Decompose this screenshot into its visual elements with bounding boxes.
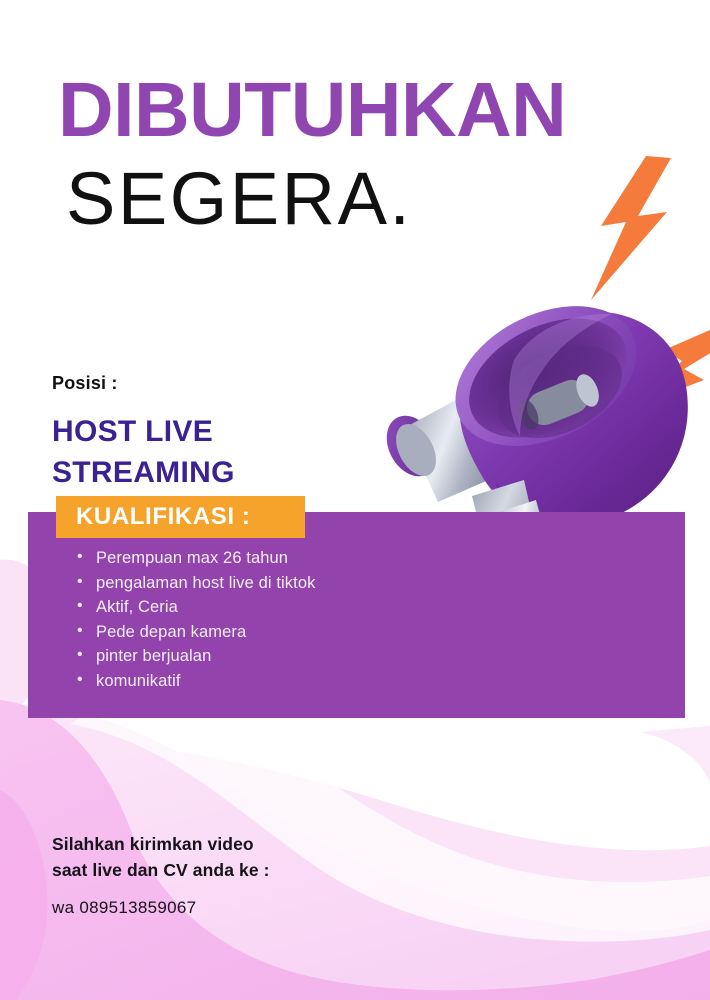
contact-instruction-line-1: Silahkan kirimkan video [52, 831, 270, 857]
qualifications-list: Perempuan max 26 tahun pengalaman host l… [72, 548, 396, 696]
list-item: Perempuan max 26 tahun [96, 548, 396, 570]
qualifications-ribbon-label: KUALIFIKASI : [56, 503, 250, 531]
job-vacancy-poster: DIBUTUHKAN SEGERA. [0, 0, 710, 1000]
list-item: pengalaman host live di tiktok [96, 573, 396, 595]
list-item: komunikatif [96, 671, 396, 693]
contact-instruction-line-2: saat live dan CV anda ke : [52, 857, 270, 883]
headline-primary: DIBUTUHKAN [0, 74, 710, 148]
position-label: Posisi : [52, 373, 118, 394]
job-title-line-2: STREAMING [52, 453, 235, 494]
whatsapp-number: wa 089513859067 [52, 898, 196, 918]
list-item: Aktif, Ceria [96, 597, 396, 619]
list-item: Pede depan kamera [96, 622, 396, 644]
contact-instruction: Silahkan kirimkan video saat live dan CV… [52, 831, 270, 884]
job-title-line-1: HOST LIVE [52, 412, 235, 453]
job-title: HOST LIVE STREAMING [52, 412, 235, 493]
list-item: pinter berjualan [96, 646, 396, 668]
qualifications-ribbon: KUALIFIKASI : [56, 496, 305, 538]
